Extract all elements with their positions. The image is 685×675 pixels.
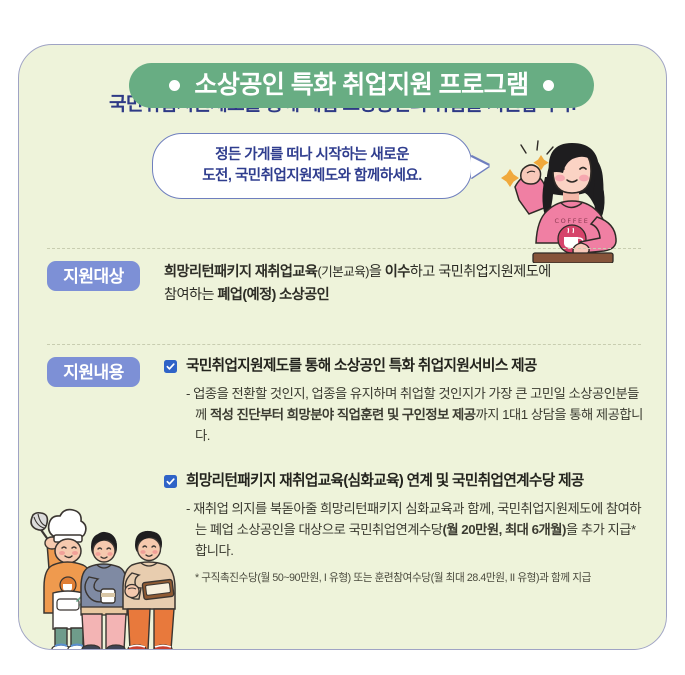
content-item-detail: - 업종을 전환할 것인지, 업종을 유지하며 취업할 것인지가 가장 큰 고민… (186, 383, 647, 446)
content-item-heading: 국민취업지원제도를 통해 소상공인 특화 취업지원서비스 제공 (186, 357, 647, 376)
detail-text-b: 적성 진단부터 희망분야 직업훈련 및 구인정보 제공 (210, 407, 476, 422)
svg-text:COFFEE: COFFEE (555, 217, 590, 225)
bullet-dot-icon (543, 80, 554, 91)
whisk-icon (31, 513, 47, 530)
sparkle-lines-icon (521, 141, 553, 154)
infographic-poster: 소상공인 특화 취업지원 프로그램 국민취업지원제도를 통해 폐업 소상공인의 … (0, 0, 685, 675)
badge-label: 지원대상 (63, 268, 124, 285)
speech-bubble-line-1: 정든 가게를 떠나 시작하는 새로운 (215, 147, 409, 164)
page-title: 소상공인 특화 취업지원 프로그램 (194, 73, 528, 98)
face (55, 539, 81, 563)
detail-text-b: (월 20만원, 최대 6개월) (442, 522, 565, 537)
support-target-body: 희망리턴패키지 재취업교육(기본교육)을 이수하고 국민취업지원제도에 참여하는… (164, 261, 647, 307)
target-text-b: (기본교육) (317, 265, 368, 279)
fist-icon (125, 585, 139, 598)
orange-pants (128, 609, 174, 650)
section-support-target: 지원대상 희망리턴패키지 재취업교육(기본교육)을 이수하고 국민취업지원제도에… (47, 261, 647, 307)
speech-bubble-line-2: 도전, 국민취업지원제도와 함께하세요. (202, 168, 422, 185)
content-item-heading: 희망리턴패키지 재취업교육(심화교육) 연계 및 국민취업연계수당 제공 (186, 472, 647, 491)
support-target-line-2: 참여하는 폐업(예정) 소상공인 (164, 284, 647, 307)
list-item: 희망리턴패키지 재취업교육(심화교육) 연계 및 국민취업연계수당 제공 - 재… (164, 472, 647, 586)
target-text-c: 을 (369, 264, 385, 280)
man-figure (123, 531, 175, 650)
program-title-banner: 소상공인 특화 취업지원 프로그램 (129, 63, 594, 108)
checkbox-checked-icon[interactable] (164, 475, 177, 488)
content-item-detail: - 재취업 의지를 북돋아줄 희망리턴패키지 심화교육과 함께, 국민취업지원제… (186, 498, 647, 561)
support-target-line-1: 희망리턴패키지 재취업교육(기본교육)을 이수하고 국민취업지원제도에 (164, 261, 647, 284)
list-item: 국민취업지원제도를 통해 소상공인 특화 취업지원서비스 제공 - 업종을 전환… (164, 357, 647, 446)
divider (47, 344, 641, 345)
target-text-g: 폐업(예정) 소상공인 (217, 287, 329, 303)
target-text-a: 희망리턴패키지 재취업교육 (164, 264, 317, 280)
badge-support-content: 지원내용 (47, 357, 140, 387)
checkbox-checked-icon[interactable] (164, 360, 177, 373)
woman-barista-illustration: COFFEE (485, 131, 667, 263)
program-card: 소상공인 특화 취업지원 프로그램 국민취업지원제도를 통해 폐업 소상공인의 … (18, 44, 667, 650)
chef-hat-icon (49, 510, 86, 538)
divider (47, 248, 641, 249)
footnote: * 구직촉진수당(월 50~90만원, I 유형) 또는 훈련참여수당(월 최대… (186, 571, 647, 586)
badge-support-target: 지원대상 (47, 261, 140, 291)
target-text-d: 이수 (385, 264, 410, 280)
target-text-f: 참여하는 (164, 287, 217, 303)
support-content-body: 국민취업지원제도를 통해 소상공인 특화 취업지원서비스 제공 - 업종을 전환… (164, 357, 647, 586)
face (138, 538, 161, 561)
raised-fist-icon (521, 165, 541, 184)
target-text-e: 하고 국민취업지원제도에 (410, 264, 551, 280)
three-small-business-owners-illustration (25, 497, 205, 650)
bullet-dot-icon (169, 80, 180, 91)
speech-bubble: 정든 가게를 떠나 시작하는 새로운 도전, 국민취업지원제도와 함께하세요. (152, 133, 472, 199)
woman-figure (81, 532, 127, 650)
speech-bubble-body: 정든 가게를 떠나 시작하는 새로운 도전, 국민취업지원제도와 함께하세요. (152, 133, 472, 199)
badge-label: 지원내용 (63, 364, 124, 381)
